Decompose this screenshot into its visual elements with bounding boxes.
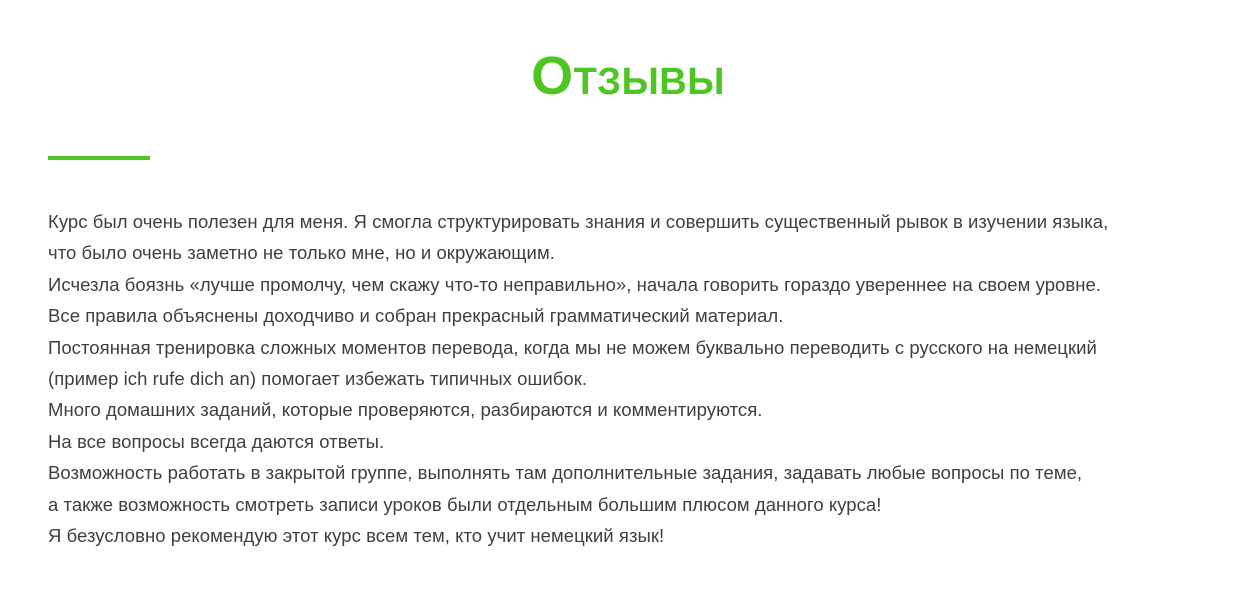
review-line: что было очень заметно не только мне, но… [48,237,1228,268]
review-line: (пример ich rufe dich an) помогает избеж… [48,363,1228,394]
title-divider [48,156,150,160]
review-line: На все вопросы всегда даются ответы. [48,426,1228,457]
review-line: Постоянная тренировка сложных моментов п… [48,332,1228,363]
review-line: Я безусловно рекомендую этот курс всем т… [48,520,1228,551]
review-line: Возможность работать в закрытой группе, … [48,457,1228,488]
review-line: Исчезла боязнь «лучше промолчу, чем скаж… [48,269,1228,300]
page-title: Отзывы [0,44,1256,108]
review-line: Все правила объяснены доходчиво и собран… [48,300,1228,331]
review-text-block: Курс был очень полезен для меня. Я смогл… [48,206,1228,551]
review-line: Много домашних заданий, которые проверяю… [48,394,1228,425]
review-line: Курс был очень полезен для меня. Я смогл… [48,206,1228,237]
reviews-page: Отзывы Курс был очень полезен для меня. … [0,0,1256,616]
review-line: а также возможность смотреть записи урок… [48,489,1228,520]
